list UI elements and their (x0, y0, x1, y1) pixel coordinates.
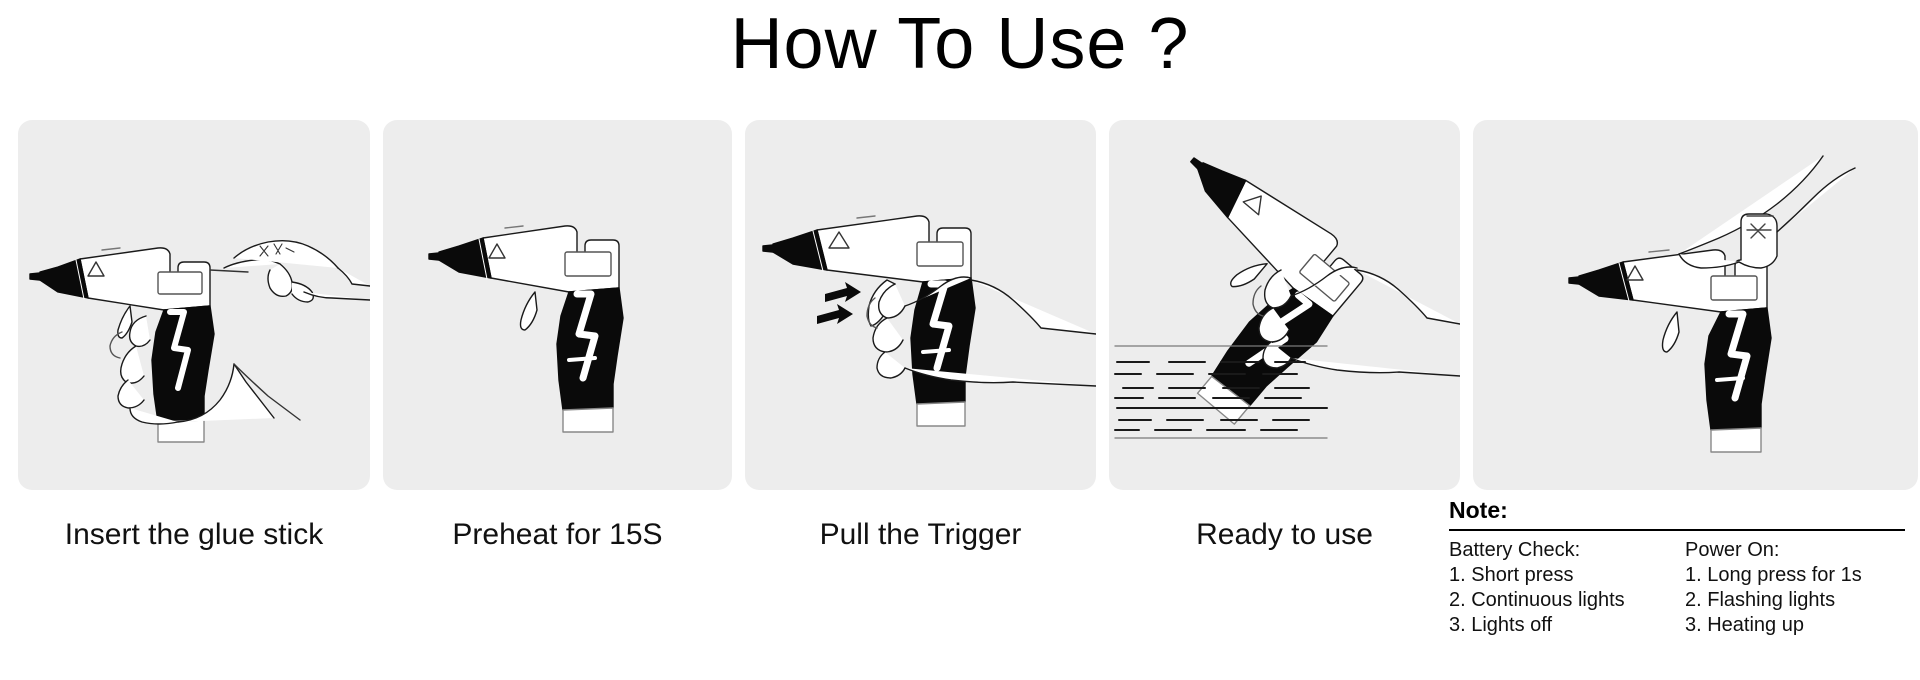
step-panel-ready-to-use (1109, 120, 1460, 490)
caption-ready-to-use: Ready to use (1109, 500, 1460, 570)
note-column-battery-check: Battery Check: 1. Short press 2. Continu… (1449, 538, 1677, 638)
glue-gun-press-power-button-icon (1473, 120, 1918, 490)
note-block: Note: Battery Check: 1. Short press 2. C… (1449, 495, 1905, 675)
note-title: Note: (1449, 495, 1905, 525)
note-item: 1. Short press (1449, 563, 1677, 588)
note-columns: Battery Check: 1. Short press 2. Continu… (1449, 538, 1905, 638)
note-item: 2. Continuous lights (1449, 588, 1677, 613)
step-panel-pull-trigger (745, 120, 1096, 490)
caption-preheat: Preheat for 15S (383, 500, 732, 570)
note-item: 3. Lights off (1449, 613, 1677, 638)
step-panel-insert-glue-stick (18, 120, 370, 490)
note-item: 1. Long press for 1s (1685, 563, 1905, 588)
note-column-power-on: Power On: 1. Long press for 1s 2. Flashi… (1677, 538, 1905, 638)
glue-gun-pull-trigger-icon (745, 120, 1096, 490)
note-heading-battery-check: Battery Check: (1449, 538, 1677, 563)
caption-pull-trigger: Pull the Trigger (745, 500, 1096, 570)
step-panel-press-power-button (1473, 120, 1918, 490)
glue-gun-applying-glue-icon (1109, 120, 1460, 490)
glue-gun-side-view-icon (383, 120, 732, 490)
note-heading-power-on: Power On: (1685, 538, 1905, 563)
caption-insert-glue-stick: Insert the glue stick (18, 500, 370, 570)
page-title: How To Use ? (0, 0, 1920, 108)
glue-gun-insert-stick-icon (18, 120, 370, 490)
note-divider (1449, 529, 1905, 531)
steps-panel-row (18, 120, 1905, 490)
note-item: 2. Flashing lights (1685, 588, 1905, 613)
note-item: 3. Heating up (1685, 613, 1905, 638)
step-panel-preheat (383, 120, 732, 490)
